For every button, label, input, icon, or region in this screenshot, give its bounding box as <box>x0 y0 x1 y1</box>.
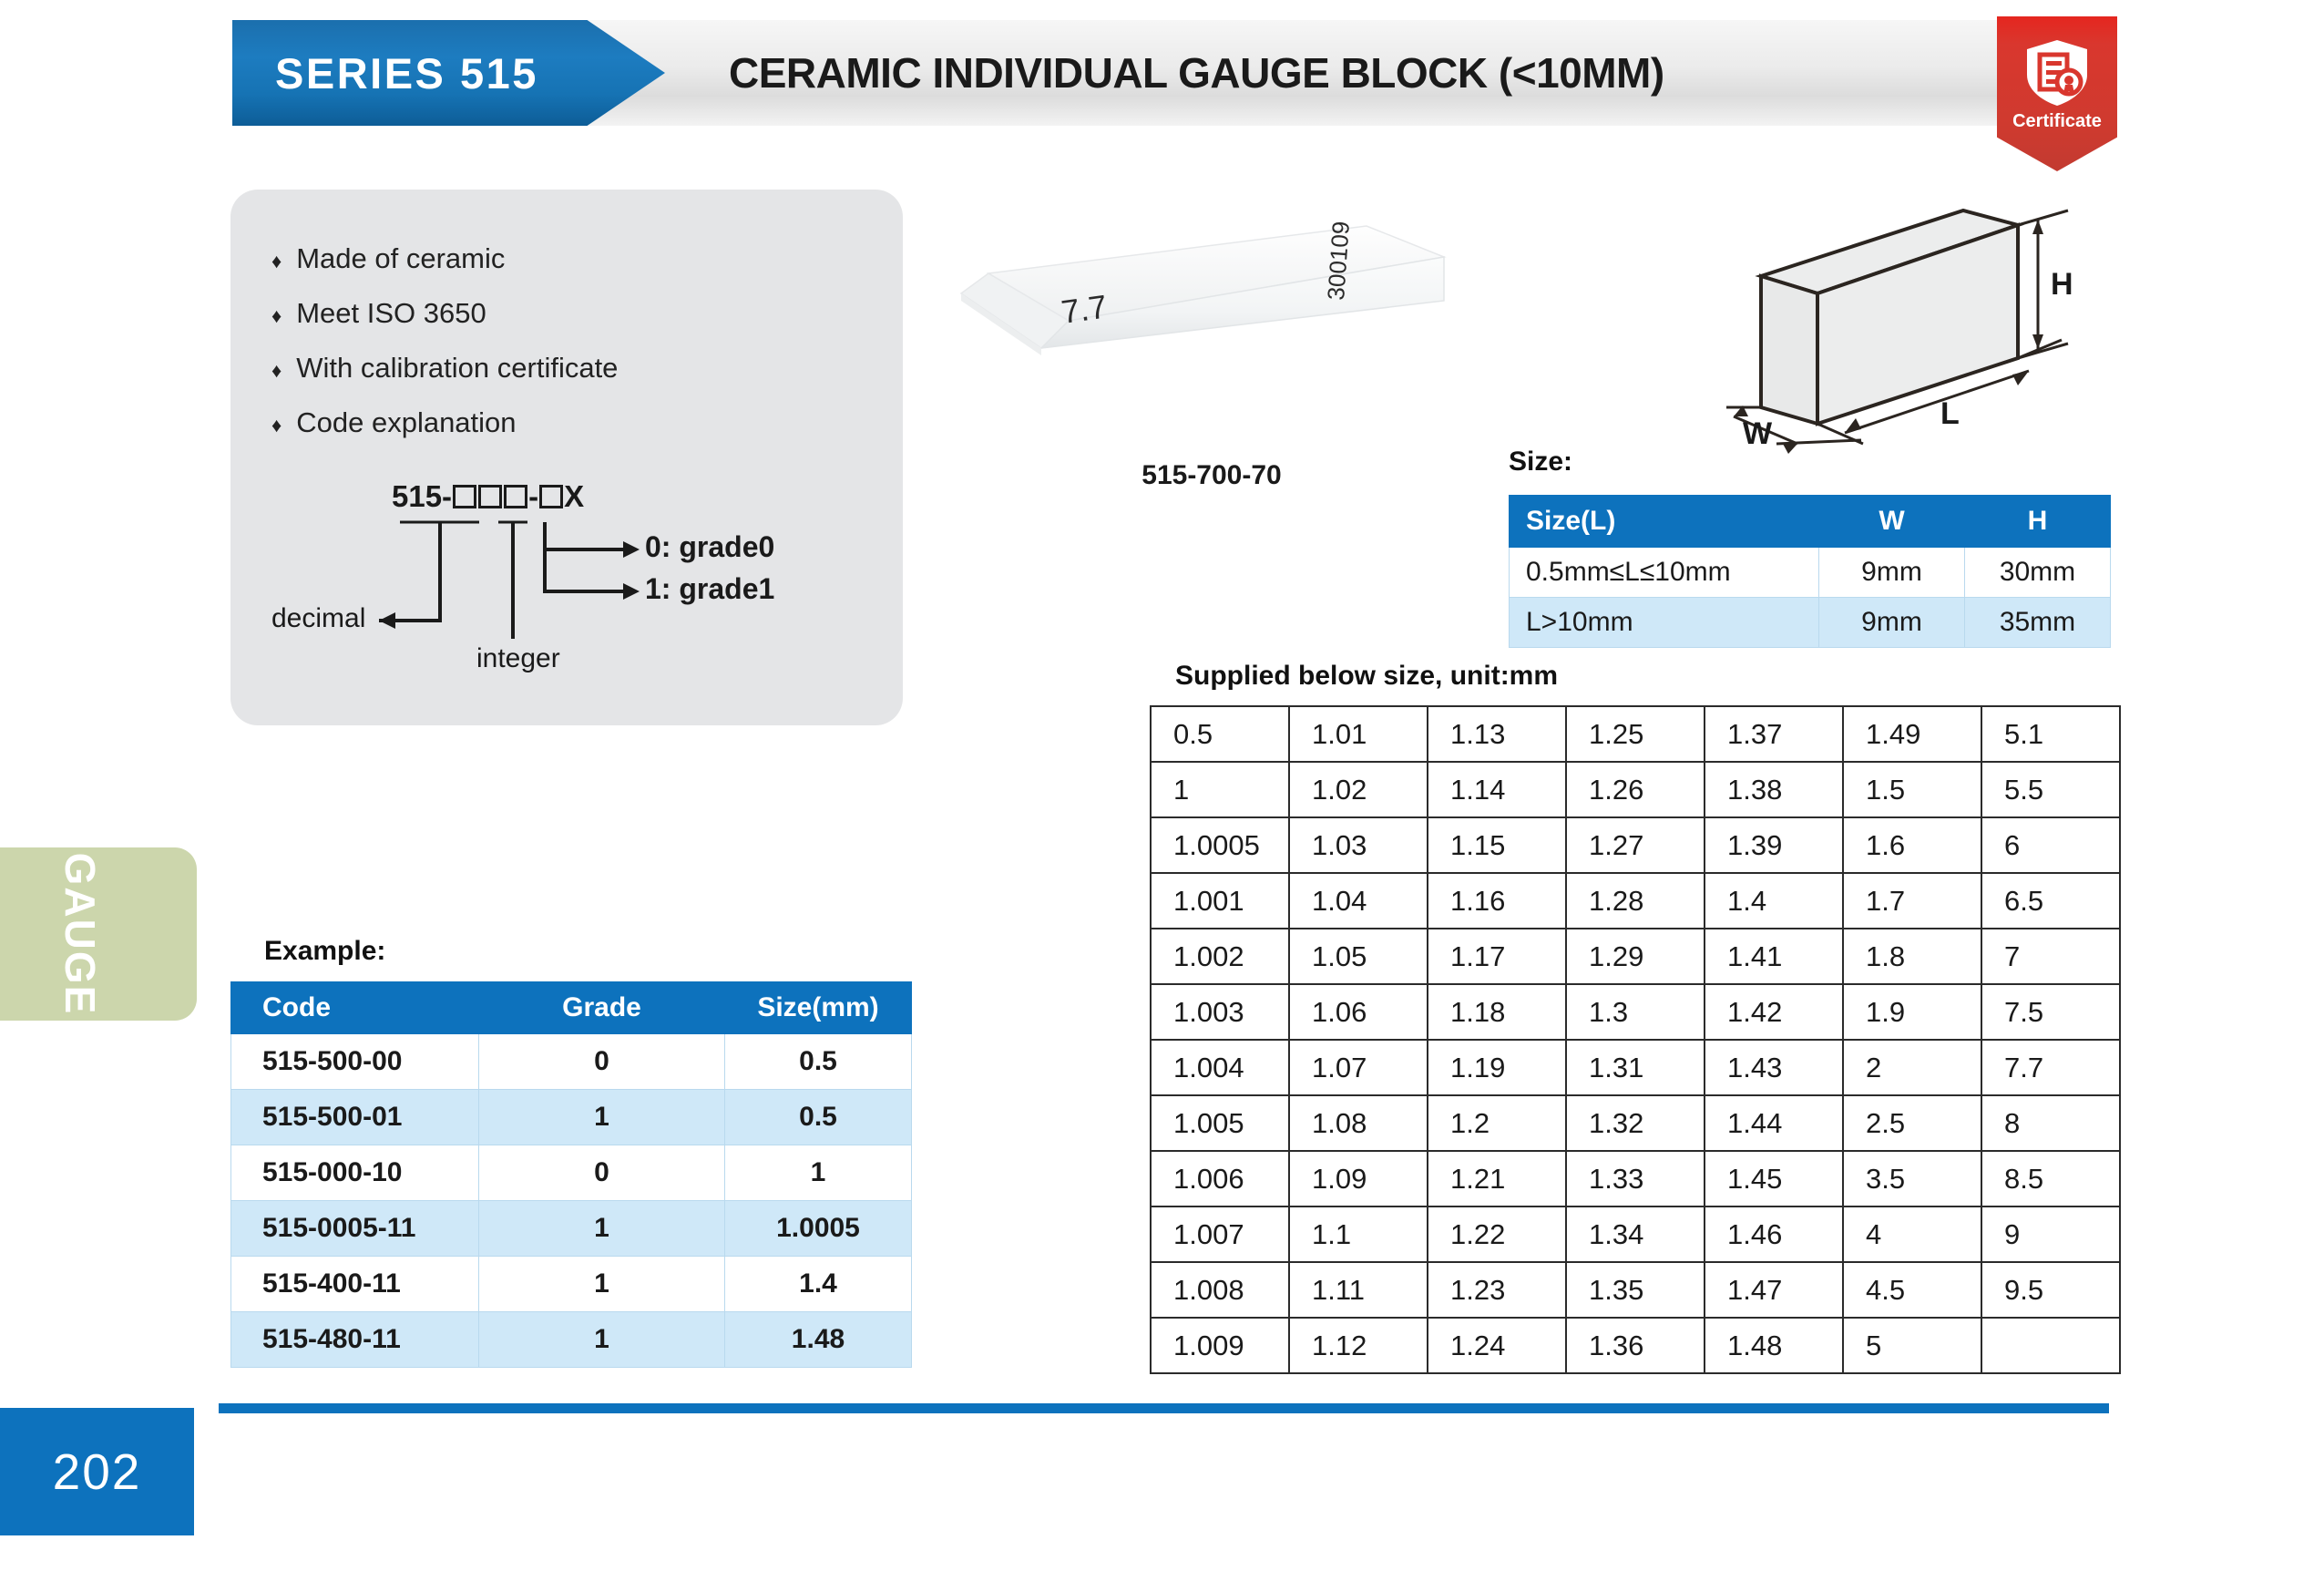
certificate-shield-icon <box>2022 36 2093 108</box>
table-row: 515-000-10 0 1 <box>231 1145 912 1201</box>
size-value-cell: 1.6 <box>1843 817 1981 873</box>
size-value-cell: 1.25 <box>1566 706 1705 762</box>
w-col-header: W <box>1819 496 1965 548</box>
size-value-cell: 1.009 <box>1151 1318 1289 1373</box>
drawing-label-w: W <box>1743 416 1773 451</box>
dimension-drawing: H L W <box>1717 205 2100 456</box>
catalog-page: SERIES 515 CERAMIC INDIVIDUAL GAUGE BLOC… <box>0 0 2324 1571</box>
table-row: 1.0071.11.221.341.4649 <box>1151 1206 2120 1262</box>
size-value-cell: 8 <box>1981 1095 2120 1151</box>
size-value-cell: 7.5 <box>1981 984 2120 1040</box>
size-value-cell: 1.14 <box>1428 762 1566 817</box>
code-col-header: Code <box>231 982 479 1034</box>
h-cell: 35mm <box>1965 598 2111 648</box>
size-value-cell: 1.24 <box>1428 1318 1566 1373</box>
table-row: 1.0041.071.191.311.4327.7 <box>1151 1040 2120 1095</box>
size-value-cell: 1.38 <box>1705 762 1843 817</box>
table-row: 515-400-11 1 1.4 <box>231 1257 912 1312</box>
table-row: 515-0005-11 1 1.0005 <box>231 1201 912 1257</box>
code-cell: 515-480-11 <box>231 1312 479 1368</box>
grade1-label: 1: grade1 <box>645 572 774 606</box>
engraved-size: 7.7 <box>1059 287 1109 331</box>
example-table: Code Grade Size(mm) 515-500-00 0 0.5 515… <box>230 981 912 1368</box>
product-photo: 7.7 300109 <box>952 210 1471 437</box>
size-value-cell: 1.4 <box>1705 873 1843 929</box>
size-value-cell: 1.36 <box>1566 1318 1705 1373</box>
code-cell: 515-000-10 <box>231 1145 479 1201</box>
size-value-cell: 1.002 <box>1151 929 1289 984</box>
table-row: 515-500-01 1 0.5 <box>231 1090 912 1145</box>
size-cell: 1.0005 <box>725 1201 912 1257</box>
supplied-table-title: Supplied below size, unit:mm <box>1175 661 1558 692</box>
size-value-cell: 1.01 <box>1289 706 1428 762</box>
table-row: 515-500-00 0 0.5 <box>231 1034 912 1090</box>
size-value-cell: 1.06 <box>1289 984 1428 1040</box>
size-value-cell: 1.49 <box>1843 706 1981 762</box>
size-value-cell: 2.5 <box>1843 1095 1981 1151</box>
example-table-title: Example: <box>264 936 385 967</box>
integer-label: integer <box>476 643 560 674</box>
size-value-cell: 1.42 <box>1705 984 1843 1040</box>
code-cell: 515-500-00 <box>231 1034 479 1090</box>
size-value-cell: 3.5 <box>1843 1151 1981 1206</box>
size-value-cell: 0.5 <box>1151 706 1289 762</box>
size-value-cell: 1.12 <box>1289 1318 1428 1373</box>
size-value-cell: 6.5 <box>1981 873 2120 929</box>
size-value-cell: 5 <box>1843 1318 1981 1373</box>
size-value-cell: 1.18 <box>1428 984 1566 1040</box>
features-list: ♦ Made of ceramic ♦ Meet ISO 3650 ♦ With… <box>271 242 618 461</box>
size-value-cell: 1.007 <box>1151 1206 1289 1262</box>
table-row: 1.0051.081.21.321.442.58 <box>1151 1095 2120 1151</box>
h-cell: 30mm <box>1965 548 2111 598</box>
size-value-cell: 1.02 <box>1289 762 1428 817</box>
size-value-cell: 1.28 <box>1566 873 1705 929</box>
size-value-cell: 1.1 <box>1289 1206 1428 1262</box>
size-value-cell: 1.41 <box>1705 929 1843 984</box>
size-value-cell: 1.26 <box>1566 762 1705 817</box>
size-value-cell: 1.08 <box>1289 1095 1428 1151</box>
feature-label: Code explanation <box>296 406 516 439</box>
size-value-cell: 1.37 <box>1705 706 1843 762</box>
table-header-row: Size(L) W H <box>1510 496 2111 548</box>
size-value-cell: 1.22 <box>1428 1206 1566 1262</box>
size-value-cell: 1 <box>1151 762 1289 817</box>
page-header: SERIES 515 CERAMIC INDIVIDUAL GAUGE BLOC… <box>0 20 2324 131</box>
diamond-bullet-icon: ♦ <box>271 359 282 383</box>
h-col-header: H <box>1965 496 2111 548</box>
table-row: 1.00051.031.151.271.391.66 <box>1151 817 2120 873</box>
table-row: 11.021.141.261.381.55.5 <box>1151 762 2120 817</box>
drawing-label-h: H <box>2051 267 2073 302</box>
w-cell: 9mm <box>1819 598 1965 648</box>
table-row: 0.5mm≤L≤10mm 9mm 30mm <box>1510 548 2111 598</box>
size-value-cell: 1.001 <box>1151 873 1289 929</box>
size-value-cell: 1.11 <box>1289 1262 1428 1318</box>
table-row: 1.0061.091.211.331.453.58.5 <box>1151 1151 2120 1206</box>
decimal-label: decimal <box>271 603 365 634</box>
code-explanation-diagram: 515- - X <box>271 479 864 698</box>
w-cell: 9mm <box>1819 548 1965 598</box>
size-value-cell: 1.21 <box>1428 1151 1566 1206</box>
feature-item: ♦ With calibration certificate <box>271 352 618 385</box>
size-value-cell: 1.003 <box>1151 984 1289 1040</box>
size-value-cell: 1.32 <box>1566 1095 1705 1151</box>
size-value-cell: 7.7 <box>1981 1040 2120 1095</box>
grade-cell: 1 <box>479 1090 725 1145</box>
size-value-cell: 1.3 <box>1566 984 1705 1040</box>
sidebar-category-tab[interactable]: GAUGE <box>0 847 197 1021</box>
size-col-header: Size(mm) <box>725 982 912 1034</box>
size-value-cell: 1.19 <box>1428 1040 1566 1095</box>
size-value-cell: 1.23 <box>1428 1262 1566 1318</box>
grade-cell: 0 <box>479 1145 725 1201</box>
size-value-cell: 1.35 <box>1566 1262 1705 1318</box>
size-cell: 0.5 <box>725 1090 912 1145</box>
size-value-cell: 1.46 <box>1705 1206 1843 1262</box>
feature-label: Made of ceramic <box>296 242 505 275</box>
size-cell: 1 <box>725 1145 912 1201</box>
supplied-sizes-table: 0.51.011.131.251.371.495.111.021.141.261… <box>1150 705 2121 1374</box>
size-value-cell: 1.17 <box>1428 929 1566 984</box>
sidebar-category-label: GAUGE <box>56 853 105 1016</box>
size-value-cell: 1.9 <box>1843 984 1981 1040</box>
grade-cell: 0 <box>479 1034 725 1090</box>
size-table-title: Size: <box>1509 447 1572 477</box>
size-value-cell: 2 <box>1843 1040 1981 1095</box>
size-value-cell: 1.48 <box>1705 1318 1843 1373</box>
size-value-cell: 4 <box>1843 1206 1981 1262</box>
size-value-cell: 9 <box>1981 1206 2120 1262</box>
table-row: 1.0011.041.161.281.41.76.5 <box>1151 873 2120 929</box>
series-banner: SERIES 515 <box>232 20 665 126</box>
grade-cell: 1 <box>479 1201 725 1257</box>
size-value-cell: 1.45 <box>1705 1151 1843 1206</box>
size-value-cell: 1.33 <box>1566 1151 1705 1206</box>
size-cell: 0.5 <box>725 1034 912 1090</box>
grade-col-header: Grade <box>479 982 725 1034</box>
table-row: 0.51.011.131.251.371.495.1 <box>1151 706 2120 762</box>
grade-cell: 1 <box>479 1257 725 1312</box>
certificate-badge: Certificate <box>1997 16 2117 171</box>
engraved-serial: 300109 <box>1322 221 1355 302</box>
size-value-cell: 1.7 <box>1843 873 1981 929</box>
size-value-cell: 1.07 <box>1289 1040 1428 1095</box>
size-value-cell: 6 <box>1981 817 2120 873</box>
size-value-cell: 1.44 <box>1705 1095 1843 1151</box>
size-value-cell: 1.03 <box>1289 817 1428 873</box>
table-row: L>10mm 9mm 35mm <box>1510 598 2111 648</box>
size-value-cell: 1.47 <box>1705 1262 1843 1318</box>
size-table: Size(L) W H 0.5mm≤L≤10mm 9mm 30mm L>10mm… <box>1509 495 2111 648</box>
size-cell: 0.5mm≤L≤10mm <box>1510 548 1819 598</box>
drawing-label-l: L <box>1940 396 1960 431</box>
size-value-cell: 5.5 <box>1981 762 2120 817</box>
diamond-bullet-icon: ♦ <box>271 414 282 437</box>
feature-label: Meet ISO 3650 <box>296 297 486 330</box>
size-value-cell: 1.34 <box>1566 1206 1705 1262</box>
table-row: 1.0081.111.231.351.474.59.5 <box>1151 1262 2120 1318</box>
size-value-cell: 7 <box>1981 929 2120 984</box>
code-cell: 515-500-01 <box>231 1090 479 1145</box>
table-row: 515-480-11 1 1.48 <box>231 1312 912 1368</box>
page-number: 202 <box>53 1443 142 1501</box>
size-value-cell: 1.15 <box>1428 817 1566 873</box>
size-value-cell: 1.13 <box>1428 706 1566 762</box>
grade-cell: 1 <box>479 1312 725 1368</box>
feature-item: ♦ Made of ceramic <box>271 242 618 275</box>
code-cell: 515-0005-11 <box>231 1201 479 1257</box>
size-value-cell: 1.006 <box>1151 1151 1289 1206</box>
feature-item: ♦ Meet ISO 3650 <box>271 297 618 330</box>
size-cell: 1.48 <box>725 1312 912 1368</box>
size-value-cell: 9.5 <box>1981 1262 2120 1318</box>
size-value-cell: 8.5 <box>1981 1151 2120 1206</box>
size-value-cell: 1.8 <box>1843 929 1981 984</box>
certificate-label: Certificate <box>1997 111 2117 132</box>
size-value-cell: 1.29 <box>1566 929 1705 984</box>
page-title: CERAMIC INDIVIDUAL GAUGE BLOCK (<10MM) <box>729 20 1664 126</box>
code-leader-lines <box>271 479 864 698</box>
size-value-cell: 1.39 <box>1705 817 1843 873</box>
code-cell: 515-400-11 <box>231 1257 479 1312</box>
product-code-caption: 515-700-70 <box>952 460 1471 491</box>
size-value-cell: 1.005 <box>1151 1095 1289 1151</box>
size-value-cell: 5.1 <box>1981 706 2120 762</box>
grade0-label: 0: grade0 <box>645 530 774 564</box>
diamond-bullet-icon: ♦ <box>271 304 282 328</box>
size-value-cell: 1.31 <box>1566 1040 1705 1095</box>
size-value-cell: 1.43 <box>1705 1040 1843 1095</box>
page-number-box: 202 <box>0 1408 194 1535</box>
diamond-bullet-icon: ♦ <box>271 250 282 273</box>
feature-label: With calibration certificate <box>296 352 618 385</box>
size-value-cell: 1.5 <box>1843 762 1981 817</box>
series-label: SERIES 515 <box>232 48 538 98</box>
size-value-cell: 1.04 <box>1289 873 1428 929</box>
table-row: 1.0021.051.171.291.411.87 <box>1151 929 2120 984</box>
size-value-cell: 1.2 <box>1428 1095 1566 1151</box>
size-value-cell: 1.27 <box>1566 817 1705 873</box>
features-panel: ♦ Made of ceramic ♦ Meet ISO 3650 ♦ With… <box>230 190 903 725</box>
size-value-cell: 1.004 <box>1151 1040 1289 1095</box>
size-value-cell: 4.5 <box>1843 1262 1981 1318</box>
table-row: 1.0091.121.241.361.485 <box>1151 1318 2120 1373</box>
size-value-cell: 1.09 <box>1289 1151 1428 1206</box>
size-cell: L>10mm <box>1510 598 1819 648</box>
size-value-cell: 1.16 <box>1428 873 1566 929</box>
table-header-row: Code Grade Size(mm) <box>231 982 912 1034</box>
size-value-cell <box>1981 1318 2120 1373</box>
size-cell: 1.4 <box>725 1257 912 1312</box>
size-value-cell: 1.008 <box>1151 1262 1289 1318</box>
size-col-header: Size(L) <box>1510 496 1819 548</box>
feature-item: ♦ Code explanation <box>271 406 618 439</box>
table-row: 1.0031.061.181.31.421.97.5 <box>1151 984 2120 1040</box>
size-value-cell: 1.0005 <box>1151 817 1289 873</box>
size-value-cell: 1.05 <box>1289 929 1428 984</box>
footer-rule <box>219 1403 2109 1413</box>
